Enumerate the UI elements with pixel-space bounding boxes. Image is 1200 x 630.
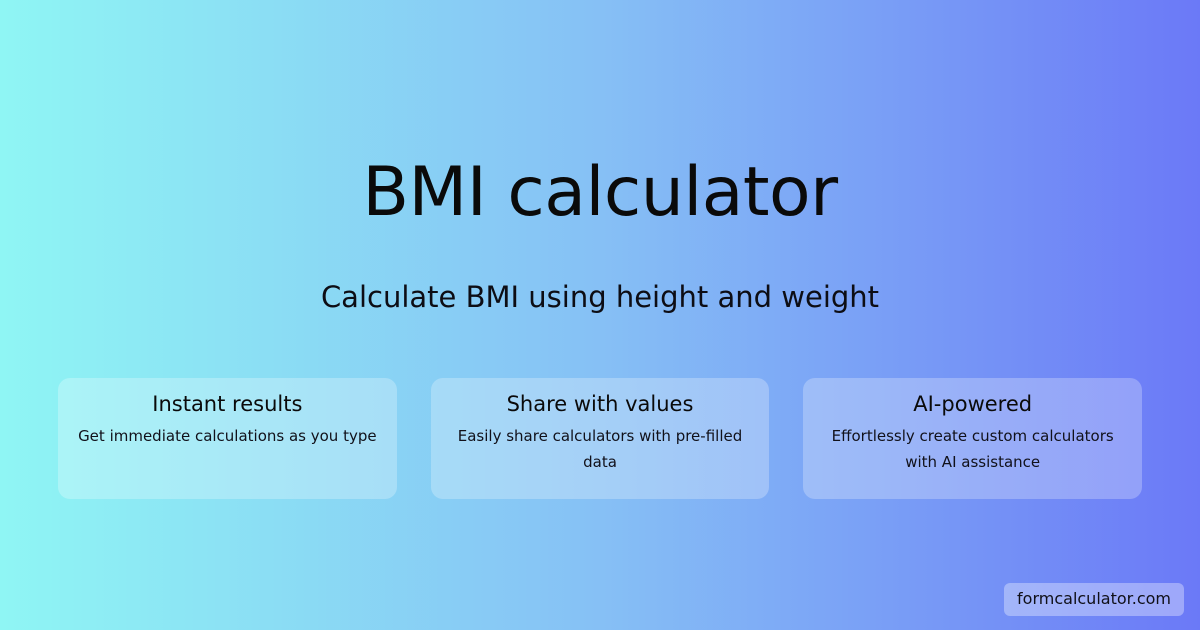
page-title: BMI calculator: [0, 156, 1200, 231]
feature-card-title: Share with values: [507, 391, 694, 417]
feature-card-description: Effortlessly create custom calculators w…: [819, 424, 1126, 476]
feature-card-title: AI-powered: [913, 391, 1032, 417]
feature-card-title: Instant results: [152, 391, 302, 417]
feature-card-description: Get immediate calculations as you type: [78, 424, 377, 450]
site-domain-badge: formcalculator.com: [1004, 583, 1184, 616]
feature-card-ai-powered: AI-powered Effortlessly create custom ca…: [803, 378, 1142, 499]
feature-card-description: Easily share calculators with pre-filled…: [447, 424, 754, 476]
og-preview-card: BMI calculator Calculate BMI using heigh…: [0, 0, 1200, 630]
feature-card-share-with-values: Share with values Easily share calculato…: [431, 378, 770, 499]
feature-card-instant-results: Instant results Get immediate calculatio…: [58, 378, 397, 499]
feature-list: Instant results Get immediate calculatio…: [58, 378, 1142, 499]
page-subtitle: Calculate BMI using height and weight: [0, 280, 1200, 315]
